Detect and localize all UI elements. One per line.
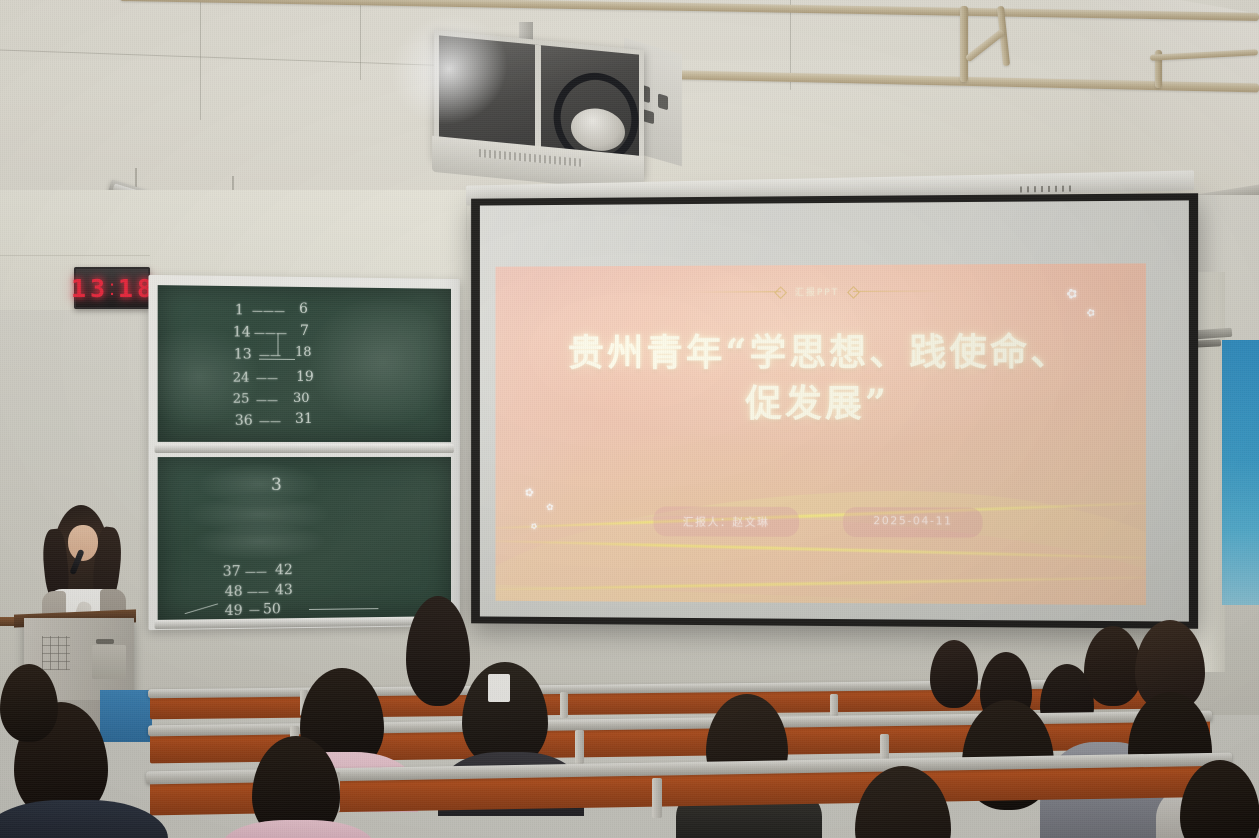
blackboard-lower-panel: 3 37 —— 42 48 —— 43 49 — 50 <box>158 457 451 620</box>
chalk-tray <box>155 444 454 453</box>
chalk-text: 7 <box>300 323 309 339</box>
bird-icon: ✿ <box>546 502 554 514</box>
digital-wall-clock: 1 3 : 1 8 <box>74 267 150 309</box>
slide-badge-row: 汇报人：赵文琳 2025-04-11 <box>495 506 1145 539</box>
housing-label <box>1020 185 1072 192</box>
lectern-slot <box>96 639 114 644</box>
slide-ornament-row: 汇报PPT <box>495 284 1145 300</box>
chalk-text: 48 <box>225 584 243 600</box>
wall-notice-board <box>1222 340 1259 605</box>
chalk-text: 18 <box>295 345 312 360</box>
blackboard: 1 ——— 6 14 ——— 7 13 —— 18 24 —— 19 25 ——… <box>148 275 459 630</box>
lectern-control-panel <box>92 645 126 679</box>
clock-digit-1: 1 <box>71 276 87 301</box>
chalk-stroke <box>278 333 279 355</box>
chalk-text: 31 <box>295 411 313 427</box>
chalk-text: 19 <box>296 369 314 385</box>
chalk-dash: —— <box>259 415 281 428</box>
chalk-text: 24 <box>233 371 250 386</box>
ornament-line-right <box>853 291 945 292</box>
blackboard-upper-panel: 1 ——— 6 14 ——— 7 13 —— 18 24 —— 19 25 ——… <box>158 285 451 442</box>
screen-surface: 汇报PPT 贵州青年“学思想、践使命、 促发展” 汇报人：赵文琳 2025-04… <box>480 200 1189 621</box>
slide-title-line-2: 促发展” <box>523 378 1118 430</box>
classroom-photo: 1 3 : 1 8 1 ——— 6 14 ——— 7 13 —— 18 24 —… <box>0 0 1259 838</box>
hair-clip <box>488 674 510 702</box>
chalk-text: 30 <box>293 391 310 406</box>
diamond-icon <box>847 286 860 299</box>
projected-slide: 汇报PPT 贵州青年“学思想、践使命、 促发展” 汇报人：赵文琳 2025-04… <box>495 263 1145 605</box>
chalk-text: 25 <box>233 392 250 407</box>
clock-digit-3: 1 <box>118 276 134 301</box>
chalk-stroke <box>309 608 378 610</box>
diamond-icon <box>774 286 787 299</box>
ornament-line-left <box>690 291 781 292</box>
chalk-text: 43 <box>275 582 293 598</box>
chalk-text: 42 <box>275 562 293 578</box>
chalk-text: 49 <box>225 603 243 619</box>
slide-title: 贵州青年“学思想、践使命、 促发展” <box>523 326 1118 429</box>
ceiling-pipe-vertical <box>960 6 968 82</box>
chalk-stroke <box>185 603 218 614</box>
lectern-grille <box>42 636 70 670</box>
chalk-dash: —— <box>245 565 267 578</box>
chalk-heading: 3 <box>271 475 282 495</box>
chalk-dash: —— <box>256 394 278 407</box>
wall-seam <box>0 255 150 256</box>
clock-separator: : <box>109 278 115 299</box>
projection-screen: 汇报PPT 贵州青年“学思想、践使命、 促发展” 汇报人：赵文琳 2025-04… <box>471 193 1198 629</box>
chalk-dash: ——— <box>254 326 287 339</box>
chalk-text: 1 <box>235 302 244 318</box>
clock-digit-2: 3 <box>90 276 106 301</box>
wall-seam <box>466 200 467 240</box>
slide-presenter-badge: 汇报人：赵文琳 <box>653 506 799 536</box>
blue-container <box>100 690 152 742</box>
slide-title-line-1: 贵州青年“学思想、践使命、 <box>523 326 1118 378</box>
slide-eyebrow-text: 汇报PPT <box>795 285 839 298</box>
ceiling-projector <box>424 22 674 207</box>
chalk-text: 14 <box>233 324 251 340</box>
bench-post <box>575 730 584 764</box>
bird-icon: ✿ <box>523 485 535 500</box>
chalk-text: 36 <box>235 413 253 429</box>
chalk-text: 13 <box>234 346 252 362</box>
slide-date-badge: 2025-04-11 <box>843 507 983 538</box>
bench-post <box>652 778 662 818</box>
chalk-text: 6 <box>299 301 308 317</box>
chalk-smudge <box>194 523 325 560</box>
chalk-text: 50 <box>263 601 281 617</box>
bench-post <box>560 692 568 718</box>
chalk-dash: —— <box>256 372 278 385</box>
projector-vent <box>658 93 668 110</box>
bird-icon: ✿ <box>1085 307 1097 320</box>
chalk-text: 37 <box>223 564 241 580</box>
chalk-smudge <box>309 297 451 427</box>
audience-shoulders <box>0 800 168 838</box>
audience-shoulders <box>222 820 374 838</box>
chalk-dash: ——— <box>252 304 285 317</box>
chalk-dash: —— <box>247 585 269 598</box>
chalk-dash: — <box>249 604 260 617</box>
presenter-face <box>68 525 98 561</box>
